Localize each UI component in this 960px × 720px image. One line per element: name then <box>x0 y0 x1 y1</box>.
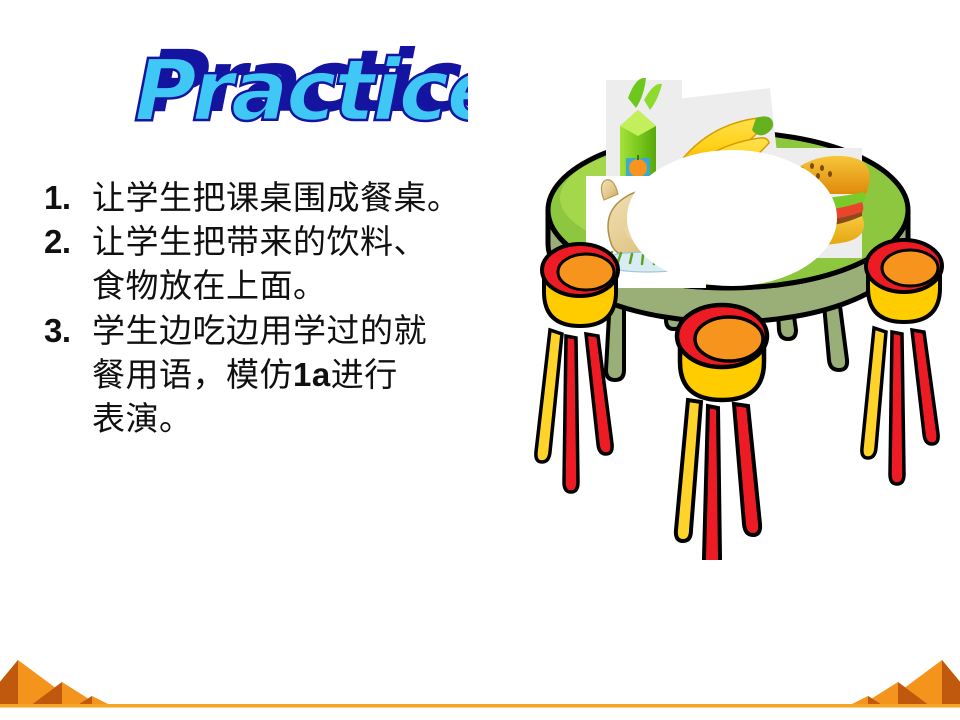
list-number: 1. <box>44 176 92 220</box>
list-item-continuation: 食物放在上面。 <box>44 264 544 308</box>
list-line: 表演。 <box>92 397 193 441</box>
footer-line <box>0 704 960 708</box>
list-item-continuation: 餐用语，模仿1a进行 <box>44 353 544 397</box>
instruction-list: 1. 让学生把课桌围成餐桌。 2. 让学生把带来的饮料、 食物放在上面。 3. … <box>44 176 544 441</box>
list-item-continuation: 表演。 <box>44 397 544 441</box>
stool-right <box>862 240 942 484</box>
list-line: 餐用语，模仿1a进行 <box>92 353 398 397</box>
list-line: 食物放在上面。 <box>92 264 327 308</box>
footer-decoration <box>0 648 960 720</box>
list-line: 让学生把课桌围成餐桌。 <box>92 176 461 220</box>
right-mountains <box>848 660 960 706</box>
list-item: 1. 让学生把课桌围成餐桌。 <box>44 176 544 220</box>
table-plate-ellipse <box>627 150 837 286</box>
list-number: 3. <box>44 309 92 353</box>
stool-center <box>676 305 767 560</box>
page-title: Practice <box>128 28 468 158</box>
list-line: 让学生把带来的饮料、 <box>92 220 427 264</box>
list-line: 学生边吃边用学过的就 <box>92 309 427 353</box>
left-mountains <box>0 660 112 706</box>
list-number: 2. <box>44 220 92 264</box>
list-item: 2. 让学生把带来的饮料、 <box>44 220 544 264</box>
dining-table-illustration <box>520 70 960 560</box>
slide-canvas: Practice 1. 让学生把课桌围成餐桌。 2. 让学生把带来的饮料、 食物… <box>0 0 960 720</box>
list-item: 3. 学生边吃边用学过的就 <box>44 309 544 353</box>
